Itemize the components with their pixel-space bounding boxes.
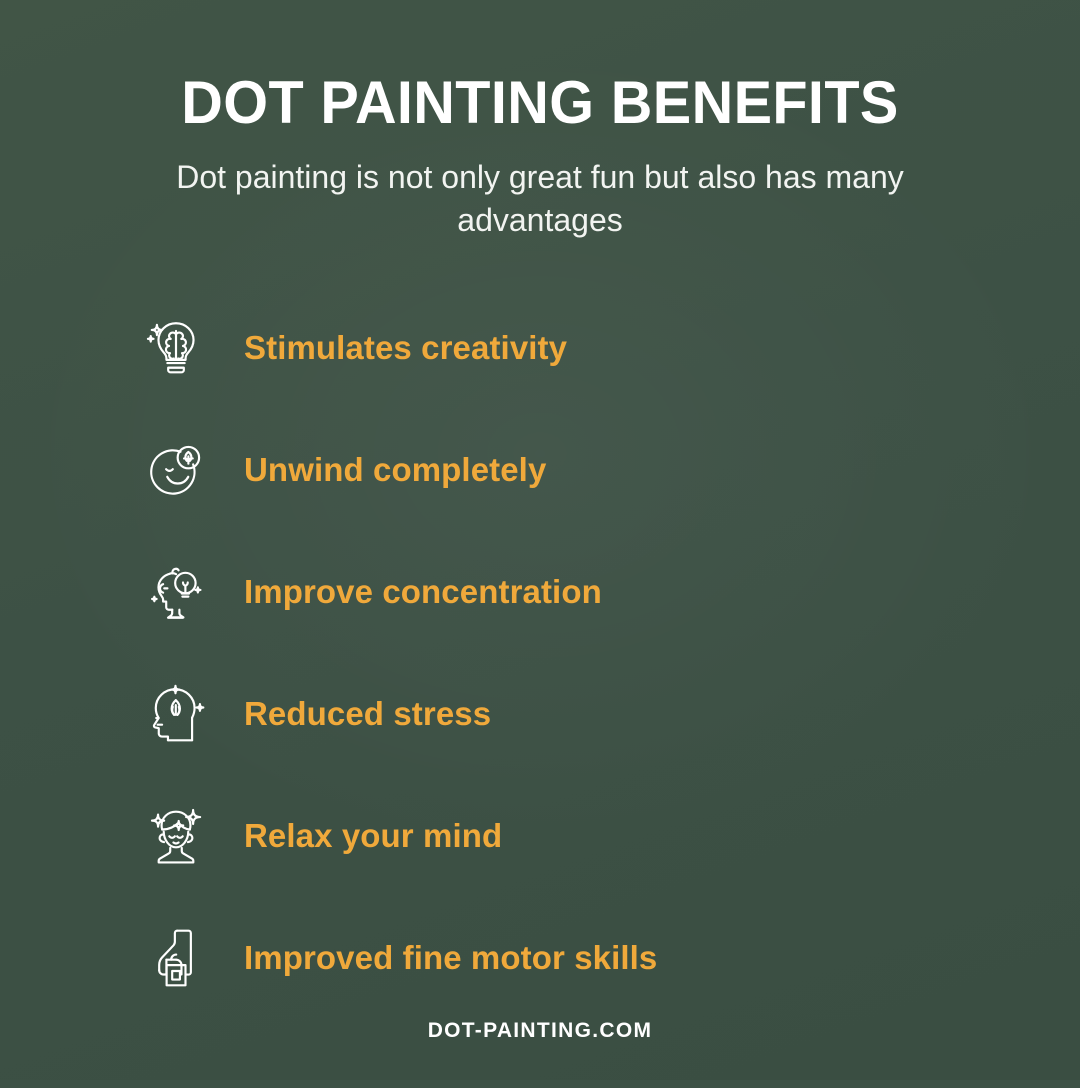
benefit-label: Improved fine motor skills xyxy=(244,939,657,977)
list-item: Reduced stress xyxy=(138,653,1080,775)
page-title: DOT PAINTING BENEFITS xyxy=(22,72,1059,134)
benefit-label: Reduced stress xyxy=(244,695,491,733)
list-item: Stimulates creativity xyxy=(138,287,1080,409)
benefit-label: Stimulates creativity xyxy=(244,329,567,367)
poster-header: DOT PAINTING BENEFITS Dot painting is no… xyxy=(0,0,1080,241)
head-lotus-sparkle-icon xyxy=(138,676,214,752)
relaxed-face-sparkle-icon xyxy=(138,798,214,874)
page-subtitle: Dot painting is not only great fun but a… xyxy=(105,156,975,241)
poster-canvas: DOT PAINTING BENEFITS Dot painting is no… xyxy=(0,0,1080,1080)
benefit-label: Improve concentration xyxy=(244,573,602,611)
smiling-face-flower-icon xyxy=(138,432,214,508)
hand-holding-dotting-tool-icon xyxy=(138,920,214,996)
benefit-label: Unwind completely xyxy=(244,451,546,489)
lightbulb-brain-sparkle-icon xyxy=(138,310,214,386)
list-item: Improved fine motor skills xyxy=(138,897,1080,1019)
benefits-list: Stimulates creativity Unwind complet xyxy=(0,287,1080,1019)
list-item: Unwind completely xyxy=(138,409,1080,531)
website-url: DOT-PAINTING.COM xyxy=(428,1019,653,1042)
list-item: Relax your mind xyxy=(138,775,1080,897)
benefit-label: Relax your mind xyxy=(244,817,502,855)
list-item: Improve concentration xyxy=(138,531,1080,653)
head-profile-lightbulb-icon xyxy=(138,554,214,630)
poster-footer: DOT-PAINTING.COM xyxy=(0,1019,1080,1088)
